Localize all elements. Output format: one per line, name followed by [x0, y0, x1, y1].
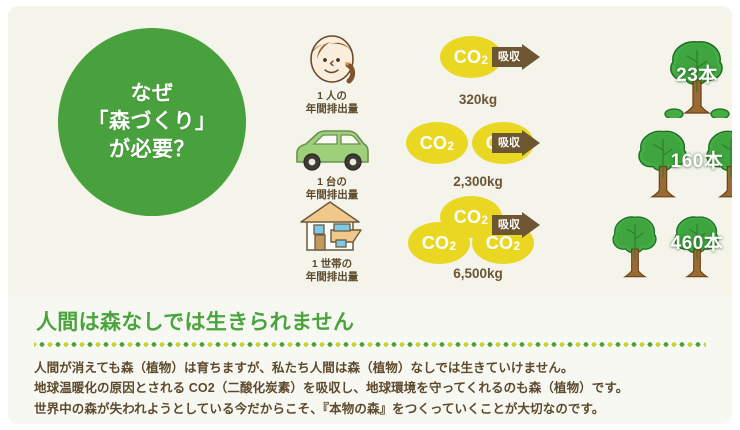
badge-line-3: が必要？: [109, 136, 195, 164]
absorption-arrow-household: 吸収: [492, 212, 540, 238]
car-icon: [292, 118, 372, 174]
tree-icon: [728, 202, 732, 286]
badge-line-1: なぜ: [131, 80, 174, 108]
tree-icon: [697, 118, 732, 204]
co2-amount-person: 320kg: [392, 92, 564, 107]
emission-source-label-household: 1 世帯の 年間排出量: [306, 258, 359, 285]
arrow-head-icon: [522, 212, 540, 238]
arrow-head-icon: [522, 44, 540, 70]
tree-icon: [629, 118, 697, 204]
tree-icon: [604, 202, 666, 286]
co2-amount-car: 2,300kg: [392, 174, 564, 189]
absorption-arrow-person: 吸収: [492, 44, 540, 70]
co2-bubble: CO2: [406, 122, 468, 164]
paragraph-line-1: 人間が消えても森（植物）は育ちますが、私たち人間は森（植物）なしでは生きていけま…: [34, 358, 724, 378]
emission-source-label-person: 1 人の 年間排出量: [306, 90, 359, 117]
footer-headline: 人間は森なしでは生きられません: [36, 306, 354, 336]
arrow-label: 吸収: [494, 217, 524, 233]
emission-source-car: 1 台の 年間排出量: [280, 118, 384, 203]
tree-group-household: 460本: [602, 194, 732, 286]
dotted-divider: [34, 342, 706, 347]
footer-paragraph: 人間が消えても森（植物）は育ちますが、私たち人間は森（植物）なしでは生きていけま…: [34, 358, 724, 419]
girl-face-icon: [304, 32, 360, 88]
paragraph-line-3: 世界中の森が失われようとしている今だからこそ、『本物の森』をつくっていくことが大…: [34, 399, 724, 419]
arrow-head-icon: [522, 130, 540, 156]
question-badge: なぜ 「森づくり」 が必要？: [58, 28, 246, 216]
paragraph-line-2: 地球温暖化の原因とされる CO2（二酸化炭素）を吸収し、地球環境を守ってくれるの…: [34, 378, 724, 398]
infographic-card: なぜ 「森づくり」 が必要？ 1 人の: [8, 6, 732, 424]
tree-group-person: 23本: [602, 26, 732, 118]
co2-amount-household: 6,500kg: [392, 266, 564, 281]
co2-bubble: CO2: [408, 222, 470, 264]
arrow-label: 吸収: [494, 49, 524, 65]
emission-source-person: 1 人の 年間排出量: [280, 32, 384, 117]
absorption-arrow-car: 吸収: [492, 130, 540, 156]
tree-icon: [666, 202, 728, 286]
emission-source-household: 1 世帯の 年間排出量: [280, 200, 384, 285]
tree-group-car: 160本: [602, 112, 732, 204]
badge-line-2: 「森づくり」: [88, 108, 217, 136]
house-icon: [295, 200, 369, 256]
tree-icon: [660, 30, 732, 118]
arrow-label: 吸収: [494, 135, 524, 151]
